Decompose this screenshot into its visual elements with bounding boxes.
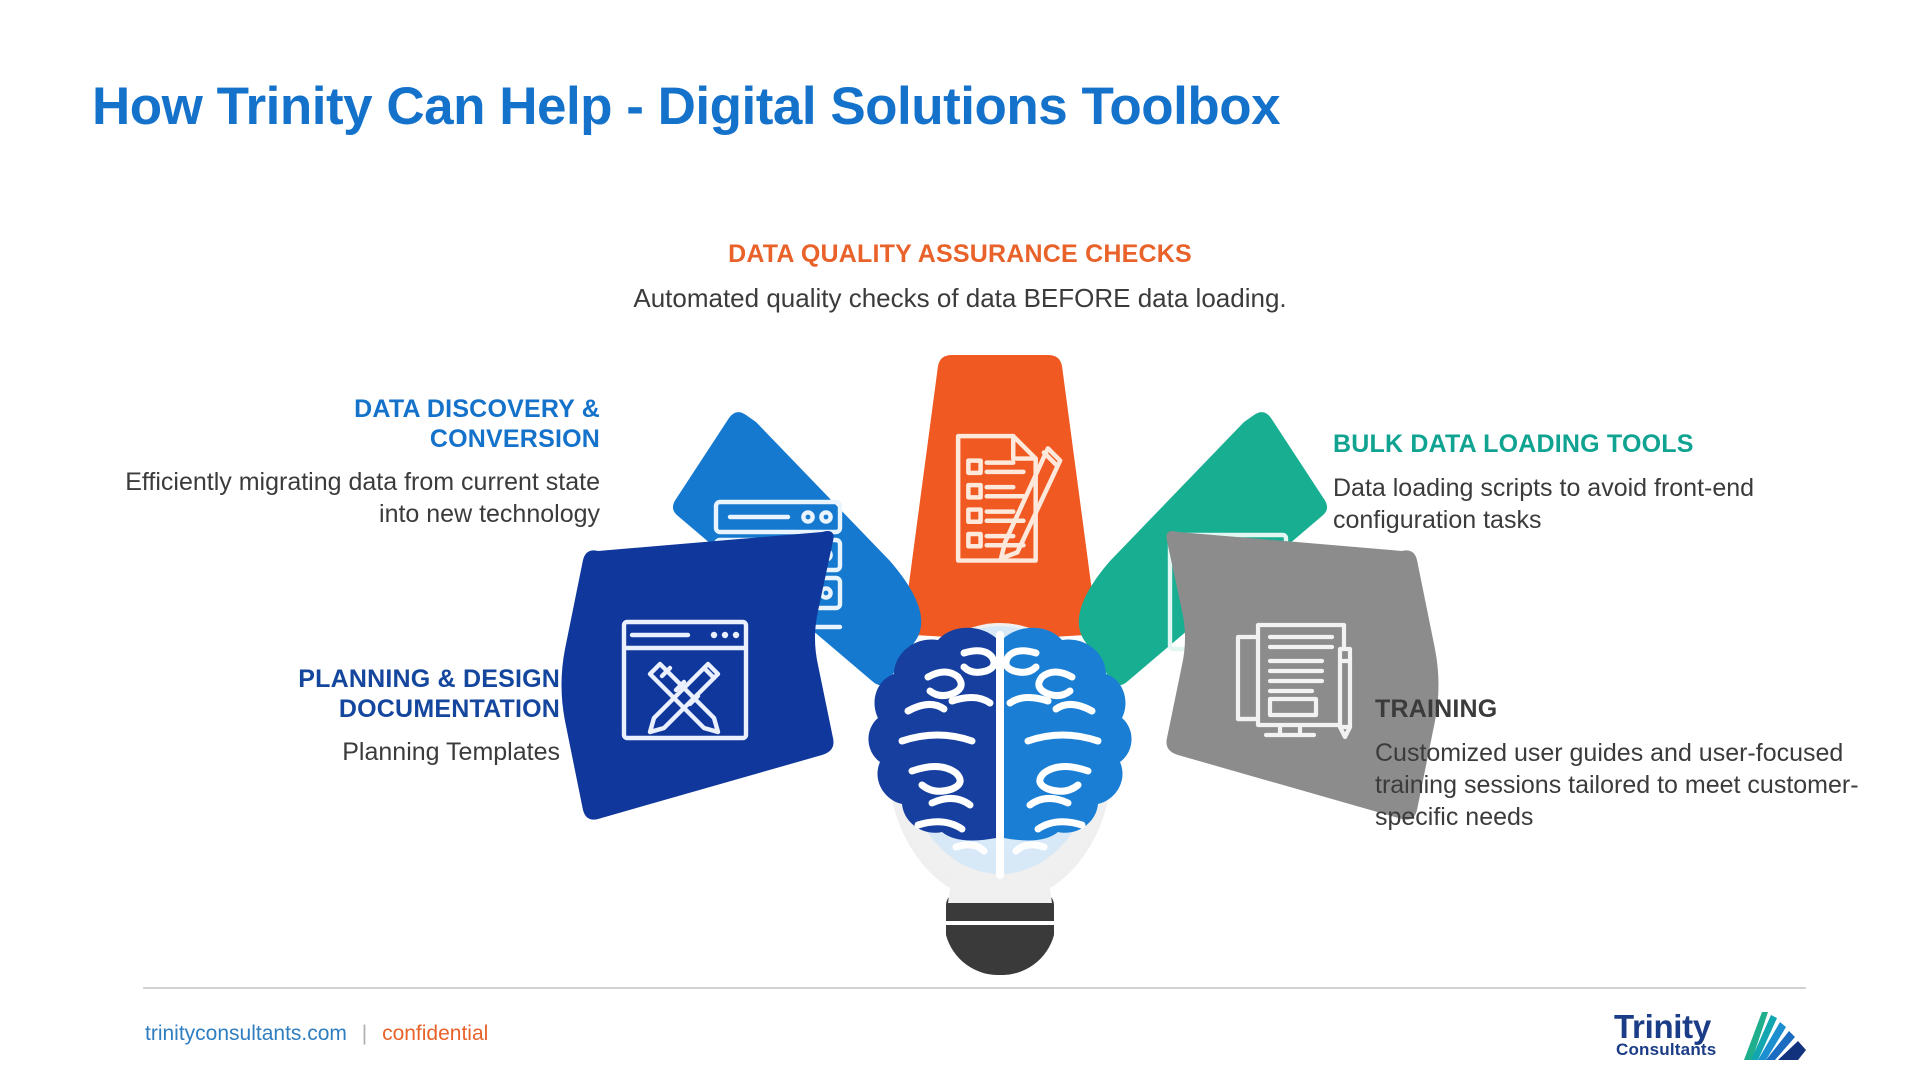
body-training: Customized user guides and user-focused … bbox=[1375, 737, 1880, 833]
petal-data-quality-assurance-checks[interactable] bbox=[904, 355, 1097, 640]
body-planning-design-documentation: Planning Templates bbox=[110, 736, 560, 768]
footer-confidential-label: confidential bbox=[382, 1022, 488, 1045]
heading-bulk-data-loading-tools: BULK DATA LOADING TOOLS bbox=[1333, 430, 1833, 460]
toolbox-rosette-diagram bbox=[560, 355, 1440, 975]
label-training: TRAINING Customized user guides and user… bbox=[1375, 695, 1880, 833]
lightbulb-brain-icon bbox=[868, 623, 1131, 975]
heading-line-2: DOCUMENTATION bbox=[110, 695, 560, 725]
slide-canvas: How Trinity Can Help - Digital Solutions… bbox=[0, 0, 1920, 1080]
heading-planning-design-documentation: PLANNING & DESIGN DOCUMENTATION bbox=[110, 665, 560, 724]
heading-line-1: DATA DISCOVERY & bbox=[110, 395, 600, 425]
heading-data-discovery-conversion: DATA DISCOVERY & CONVERSION bbox=[110, 395, 600, 454]
label-data-quality-assurance-checks: DATA QUALITY ASSURANCE CHECKS Automated … bbox=[485, 240, 1435, 315]
trinity-consultants-logo: Trinity Consultants bbox=[1614, 1010, 1809, 1072]
body-bulk-data-loading-tools: Data loading scripts to avoid front-end … bbox=[1333, 472, 1833, 536]
footer-divider bbox=[143, 987, 1806, 989]
footer-links: trinityconsultants.com | confidential bbox=[145, 1022, 488, 1046]
heading-training: TRAINING bbox=[1375, 695, 1880, 725]
footer-separator: | bbox=[362, 1022, 367, 1045]
footer-website-link[interactable]: trinityconsultants.com bbox=[145, 1022, 347, 1045]
label-data-discovery-conversion: DATA DISCOVERY & CONVERSION Efficiently … bbox=[110, 395, 600, 530]
fan-wing-mark-icon bbox=[1738, 1010, 1810, 1062]
heading-line-1: PLANNING & DESIGN bbox=[110, 665, 560, 695]
logo-subtitle: Consultants bbox=[1616, 1040, 1716, 1060]
label-planning-design-documentation: PLANNING & DESIGN DOCUMENTATION Planning… bbox=[110, 665, 560, 768]
petal-planning-design-documentation[interactable] bbox=[562, 531, 834, 820]
page-title: How Trinity Can Help - Digital Solutions… bbox=[92, 76, 1280, 137]
body-data-quality-assurance-checks: Automated quality checks of data BEFORE … bbox=[485, 282, 1435, 315]
heading-data-quality-assurance-checks: DATA QUALITY ASSURANCE CHECKS bbox=[485, 240, 1435, 270]
body-data-discovery-conversion: Efficiently migrating data from current … bbox=[110, 466, 600, 530]
label-bulk-data-loading-tools: BULK DATA LOADING TOOLS Data loading scr… bbox=[1333, 430, 1833, 536]
heading-line-2: CONVERSION bbox=[110, 425, 600, 455]
